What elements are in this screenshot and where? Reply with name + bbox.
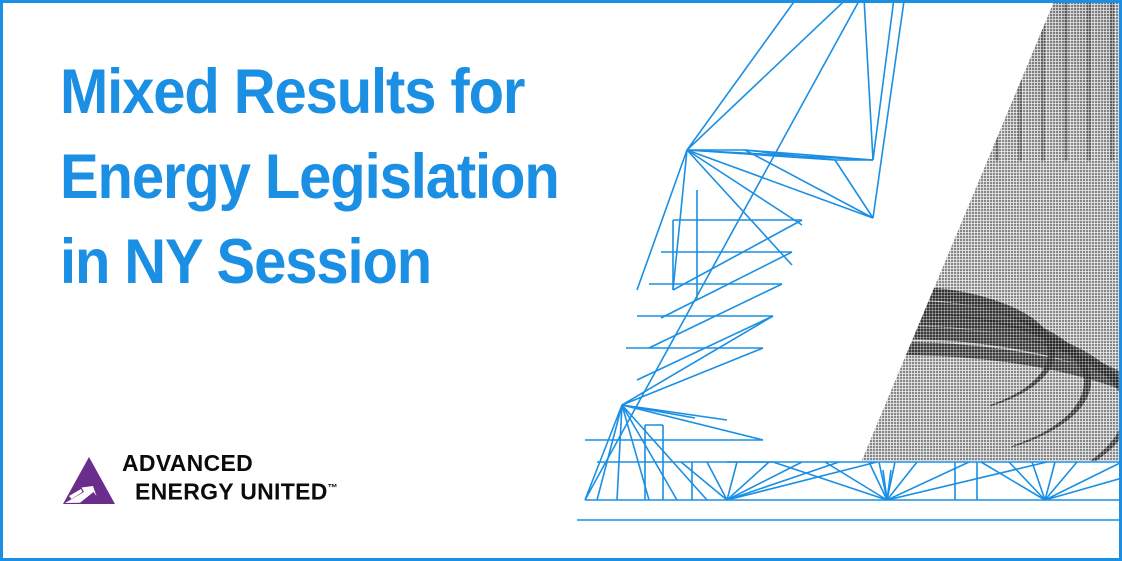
- logo-wordmark: ADVANCED ENERGY UNITED™: [122, 450, 338, 506]
- purple-triangle-arrow-icon: [62, 456, 116, 506]
- logo-line-energy-united: ENERGY UNITED™: [122, 476, 338, 505]
- logo-line2-text: ENERGY UNITED: [135, 479, 328, 505]
- brand-logo[interactable]: ADVANCED ENERGY UNITED™: [62, 450, 338, 506]
- page-title: Mixed Results for Energy Legislation in …: [60, 50, 660, 305]
- trademark-icon: ™: [328, 483, 338, 494]
- headline-line-1: Mixed Results for: [60, 50, 612, 135]
- headline-line-3: in NY Session: [60, 220, 612, 305]
- share-card: Mixed Results for Energy Legislation in …: [0, 0, 1122, 561]
- logo-line-advanced: ADVANCED: [122, 450, 338, 476]
- headline-line-2: Energy Legislation: [60, 135, 612, 220]
